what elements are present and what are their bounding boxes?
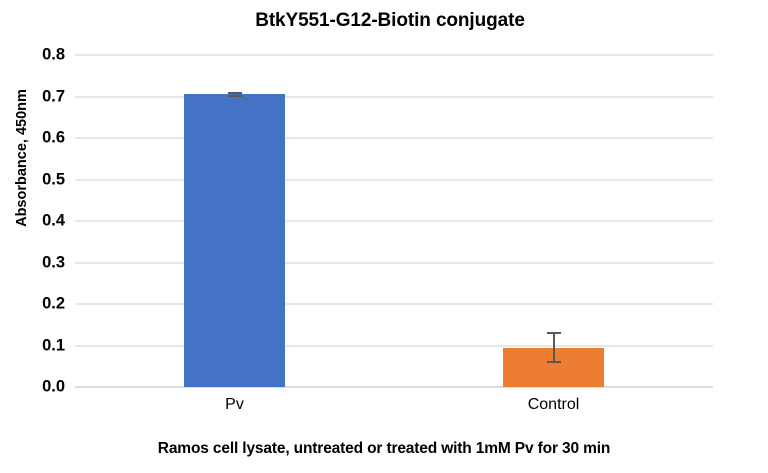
gridline [75,345,713,347]
y-tick-label: 0.3 [11,253,65,272]
y-tick-label: 0.2 [11,295,65,314]
x-tick-label-pv: Pv [225,396,244,414]
error-bar-cap-bottom [228,95,242,97]
y-axis-ticks: 0.80.70.60.50.40.30.20.10.0 [0,55,75,387]
plot-area [75,55,713,387]
gridline [75,303,713,305]
y-tick-label: 0.5 [11,170,65,189]
error-bar-cap-top [228,92,242,94]
gridline [75,220,713,222]
y-tick-label: 0.4 [11,212,65,231]
y-tick-label: 0.1 [11,336,65,355]
y-tick-label: 0.7 [11,87,65,106]
gridline [75,262,713,264]
y-tick-label: 0.0 [11,378,65,397]
error-bar-stem [553,332,555,363]
bar-pv [184,94,285,387]
y-tick-label: 0.8 [11,46,65,65]
gridline [75,96,713,98]
y-tick-label: 0.6 [11,129,65,148]
axis-baseline [75,386,713,388]
x-axis-title: Ramos cell lysate, untreated or treated … [0,440,768,458]
error-bar-cap-bottom [547,361,561,363]
chart-container: BtkY551-G12-Biotin conjugate Absorbance,… [0,0,768,473]
chart-title: BtkY551-G12-Biotin conjugate [60,10,720,32]
gridline [75,137,713,139]
gridline [75,54,713,56]
gridline [75,179,713,181]
x-tick-label-control: Control [528,396,580,414]
error-bar-cap-top [547,332,561,334]
